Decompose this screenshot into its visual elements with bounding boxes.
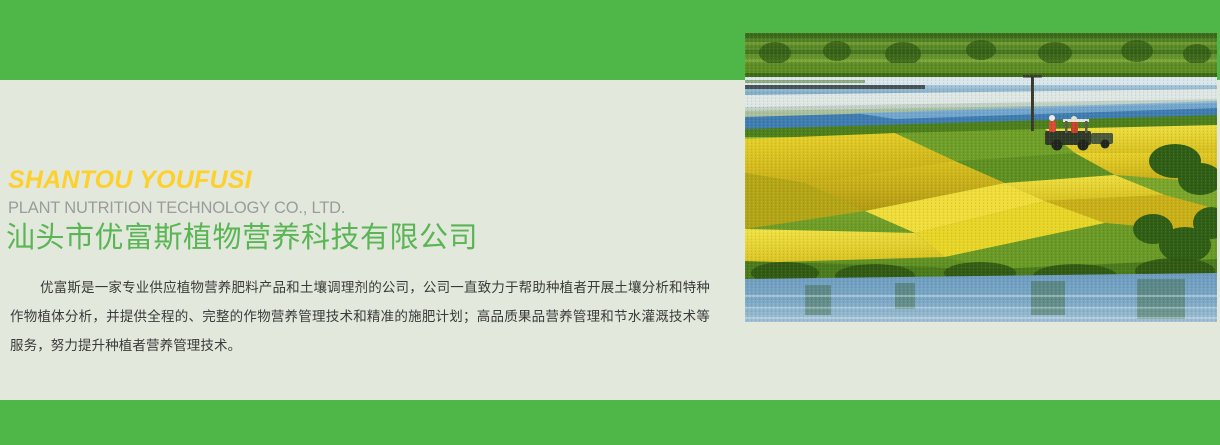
company-intro-paragraph: 优富斯是一家专业供应植物营养肥料产品和土壤调理剂的公司，公司一直致力于帮助种植者…	[10, 273, 710, 360]
brand-name-chinese: 汕头市优富斯植物营养科技有限公司	[6, 220, 478, 256]
bottom-green-band	[0, 400, 1220, 445]
company-info-column: SHANTOU YOUFUSI PLANT NUTRITION TECHNOLO…	[0, 80, 740, 400]
brand-name-english: SHANTOU YOUFUSI	[8, 166, 252, 194]
brand-subtitle-english: PLANT NUTRITION TECHNOLOGY CO., LTD.	[8, 198, 345, 218]
rice-paddy-photo	[745, 33, 1217, 322]
rice-paddy-illustration	[745, 33, 1217, 322]
